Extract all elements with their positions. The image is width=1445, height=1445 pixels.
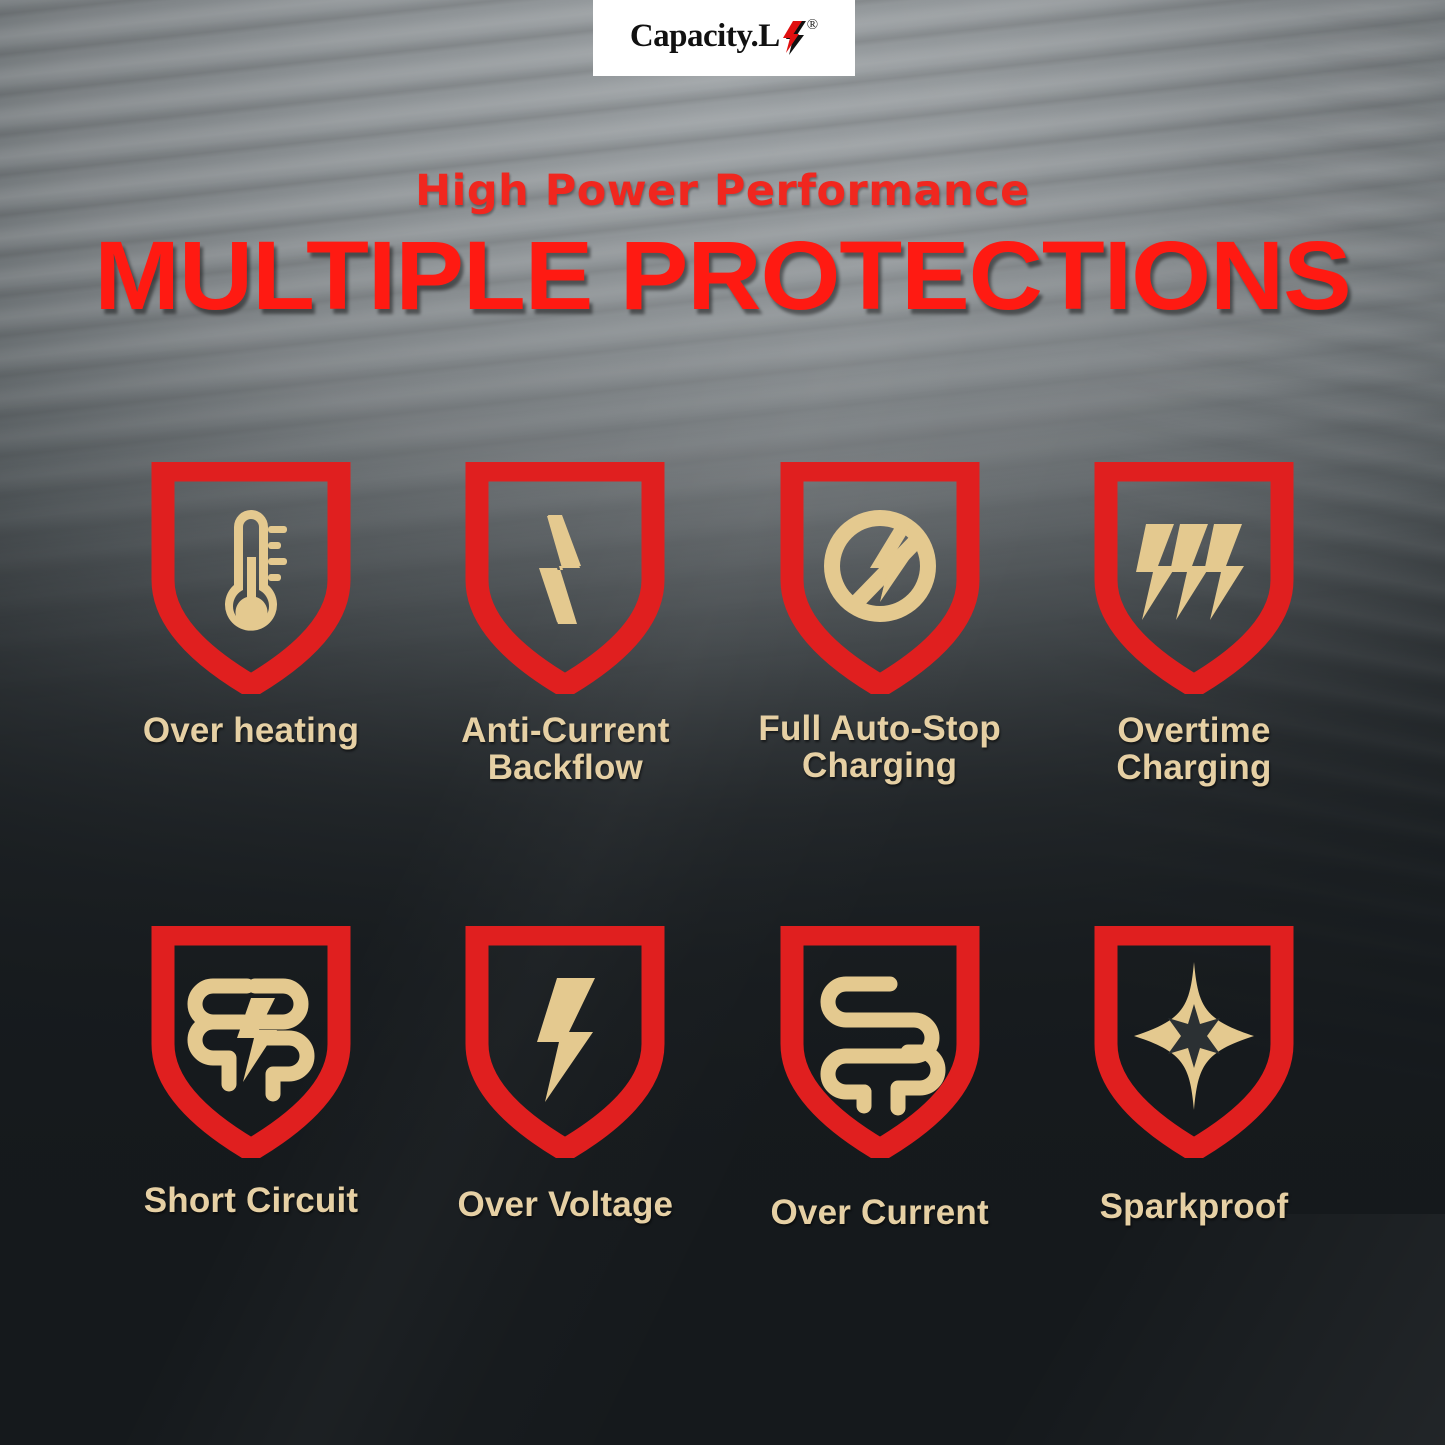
- protection-label: Short Circuit: [144, 1182, 359, 1219]
- protection-row-1: Over heating Anti-Current Backflow: [120, 462, 1325, 786]
- protection-item-over-voltage: Over Voltage: [434, 926, 696, 1231]
- lightning-bolt-letter-icon: [780, 21, 806, 60]
- heading-block: High Power Performance MULTIPLE PROTECTI…: [0, 170, 1445, 324]
- protection-item-short-circuit: Short Circuit: [120, 926, 382, 1231]
- subtitle: High Power Performance: [0, 170, 1445, 213]
- protection-label: Sparkproof: [1100, 1188, 1289, 1225]
- shield-overtime-charging: [1094, 462, 1294, 694]
- shield-over-voltage: [465, 926, 665, 1158]
- protection-label: Over Current: [771, 1194, 989, 1231]
- zigzag-bolt-icon: [539, 515, 581, 624]
- no-charging-circle-icon: [824, 510, 936, 622]
- spark-star-icon: [1134, 962, 1254, 1110]
- triple-bolt-icon: [1136, 524, 1244, 620]
- brand-logo-text: Capacity.L: [630, 20, 780, 53]
- protection-grid: Over heating Anti-Current Backflow: [120, 462, 1325, 1231]
- protection-item-over-heating: Over heating: [120, 462, 382, 786]
- protection-item-sparkproof: Sparkproof: [1063, 926, 1325, 1231]
- protection-item-anti-current-backflow: Anti-Current Backflow: [434, 462, 696, 786]
- thermometer-icon: [225, 510, 287, 631]
- shield-over-heating: [151, 462, 351, 694]
- bolt-icon: [537, 978, 595, 1102]
- protection-label: Full Auto-Stop Charging: [758, 710, 1001, 784]
- protection-label: Over Voltage: [457, 1186, 673, 1223]
- registered-trademark-icon: ®: [807, 18, 818, 33]
- shield-anti-current-backflow: [465, 462, 665, 694]
- infographic-poster: Capacity.L ® High Power Performance MULT…: [0, 0, 1445, 1445]
- background-corner-highlight: [838, 1214, 1445, 1445]
- shield-over-current: [780, 926, 980, 1158]
- protection-item-full-auto-stop-charging: Full Auto-Stop Charging: [749, 462, 1011, 786]
- shield-sparkproof: [1094, 926, 1294, 1158]
- shield-full-auto-stop-charging: [780, 462, 980, 694]
- shield-short-circuit: [151, 926, 351, 1158]
- brand-logo: Capacity.L ®: [593, 0, 855, 76]
- protection-item-overtime-charging: Overtime Charging: [1063, 462, 1325, 786]
- coiled-wire-icon: [828, 984, 938, 1108]
- page-title: MULTIPLE PROTECTIONS: [0, 227, 1445, 324]
- protection-label: Anti-Current Backflow: [461, 712, 670, 786]
- protection-row-2: Short Circuit Over Voltage: [120, 926, 1325, 1231]
- protection-item-over-current: Over Current: [749, 926, 1011, 1231]
- protection-label: Overtime Charging: [1116, 712, 1271, 786]
- protection-label: Over heating: [143, 712, 359, 749]
